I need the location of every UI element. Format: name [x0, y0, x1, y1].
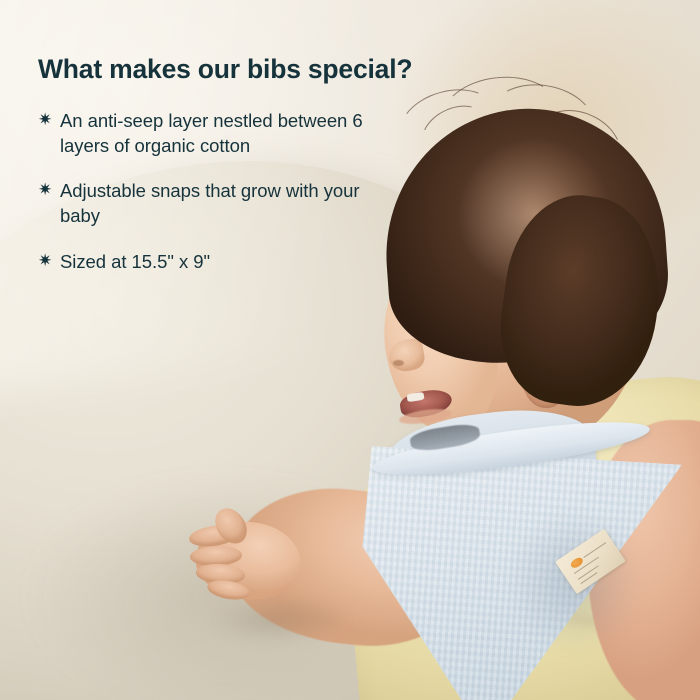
product-feature-image: What makes our bibs special? ✷ An anti-s… — [0, 0, 700, 700]
asterisk-bullet-icon: ✷ — [38, 179, 60, 202]
list-item: ✷ Sized at 15.5" x 9" — [38, 250, 458, 275]
baby-nostril — [393, 360, 404, 366]
tag-text-line — [583, 542, 606, 558]
hand-shadow — [189, 588, 371, 651]
list-item-label: An anti-seep layer nestled between 6 lay… — [60, 109, 372, 158]
feature-list: ✷ An anti-seep layer nestled between 6 l… — [38, 109, 458, 274]
list-item: ✷ An anti-seep layer nestled between 6 l… — [38, 109, 458, 158]
list-item: ✷ Adjustable snaps that grow with your b… — [38, 179, 458, 228]
feature-copy-block: What makes our bibs special? ✷ An anti-s… — [38, 54, 458, 274]
page-title: What makes our bibs special? — [38, 54, 458, 85]
asterisk-bullet-icon: ✷ — [38, 250, 60, 273]
asterisk-bullet-icon: ✷ — [38, 109, 60, 132]
list-item-label: Sized at 15.5" x 9" — [60, 250, 210, 275]
list-item-label: Adjustable snaps that grow with your bab… — [60, 179, 372, 228]
